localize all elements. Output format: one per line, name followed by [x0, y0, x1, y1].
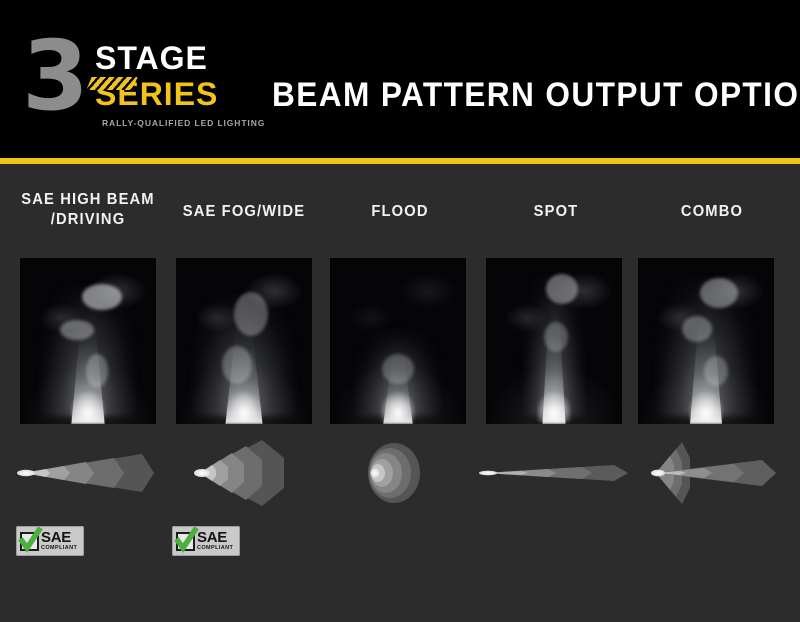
stage-series-logo: 3 Stage Series RALLY-QUALIFIED LED LIGHT… — [22, 28, 262, 132]
check-icon — [173, 527, 199, 555]
photo-beam-hotspot — [381, 392, 415, 422]
column-label-line1: SAE HIGH BEAM — [21, 191, 154, 208]
photo-light-fleck — [82, 284, 122, 310]
badge-sae-label: SAE — [197, 530, 233, 545]
column-flood: FLOOD — [322, 164, 478, 584]
column-label-line1: SPOT — [534, 203, 579, 220]
beam-shape-svg — [10, 440, 166, 506]
beam-shape-svg — [166, 440, 322, 506]
photo-light-fleck — [544, 322, 568, 352]
photo-light-fleck — [546, 274, 578, 304]
photo-light-fleck — [60, 320, 94, 340]
photo-light-fleck — [222, 346, 252, 384]
photo-light-fleck — [382, 354, 414, 384]
beam-diagram-driving — [10, 440, 166, 506]
page-title: BEAM PATTERN OUTPUT OPTIONS — [272, 76, 800, 115]
beam-photo-combo — [638, 258, 774, 424]
logo-numeral-3: 3 — [22, 28, 85, 124]
sae-compliant-badge: SAE COMPLIANT — [172, 526, 240, 556]
beam-shape-svg — [478, 440, 634, 506]
logo-wordmark: Stage Series — [95, 42, 265, 110]
column-label-line1: COMBO — [681, 203, 743, 220]
beam-shape-svg — [322, 440, 478, 506]
check-icon — [17, 527, 43, 555]
badge-compliant-label: COMPLIANT — [41, 546, 77, 552]
column-label-line1: SAE FOG/WIDE — [183, 203, 305, 220]
photo-light-fleck — [700, 278, 738, 308]
badge-text: SAE COMPLIANT — [197, 530, 233, 552]
badge-text: SAE COMPLIANT — [41, 530, 77, 552]
logo-stripe-graphic — [86, 77, 137, 90]
column-label: FLOOD — [326, 202, 474, 222]
photo-beam-hotspot — [537, 392, 571, 422]
column-label: COMBO — [638, 202, 786, 222]
photo-light-fleck — [682, 316, 712, 342]
column-combo: COMBO — [634, 164, 790, 584]
beam-diagram-spot — [478, 440, 634, 506]
photo-light-fleck — [86, 354, 108, 388]
photo-beam-hotspot — [71, 392, 105, 422]
column-label-line1: FLOOD — [371, 203, 428, 220]
beam-diagram-fog-wide — [166, 440, 322, 506]
checkbox-frame — [176, 532, 195, 551]
photo-light-fleck — [704, 356, 728, 386]
column-label: SAE FOG/WIDE — [170, 202, 318, 222]
logo-tagline: RALLY-QUALIFIED LED LIGHTING — [102, 118, 265, 128]
column-label-line2: /DRIVING — [51, 211, 126, 228]
column-label: SAE HIGH BEAM /DRIVING — [14, 190, 162, 230]
photo-beam-hotspot — [689, 392, 723, 422]
photo-light-fleck — [234, 292, 268, 336]
header-bar: 3 Stage Series RALLY-QUALIFIED LED LIGHT… — [0, 0, 800, 158]
badge-compliant-label: COMPLIANT — [197, 546, 233, 552]
column-spot: SPOT — [478, 164, 634, 584]
beam-photo-fog-wide — [176, 258, 312, 424]
column-sae-high-beam-driving: SAE HIGH BEAM /DRIVING — [10, 164, 166, 584]
column-label: SPOT — [482, 202, 630, 222]
checkbox-frame — [20, 532, 39, 551]
column-sae-fog-wide: SAE FOG/WIDE — [166, 164, 322, 584]
beam-shape-svg — [634, 440, 790, 506]
beam-photo-flood — [330, 258, 466, 424]
badge-sae-label: SAE — [41, 530, 77, 545]
photo-beam-hotspot — [227, 392, 261, 422]
logo-word-stage: Stage — [95, 42, 265, 74]
beam-photo-driving — [20, 258, 156, 424]
beam-diagram-combo — [634, 440, 790, 506]
beam-pattern-infographic: 3 Stage Series RALLY-QUALIFIED LED LIGHT… — [0, 0, 800, 622]
beam-photo-spot — [486, 258, 622, 424]
sae-compliant-badge: SAE COMPLIANT — [16, 526, 84, 556]
beam-diagram-flood — [322, 440, 478, 506]
